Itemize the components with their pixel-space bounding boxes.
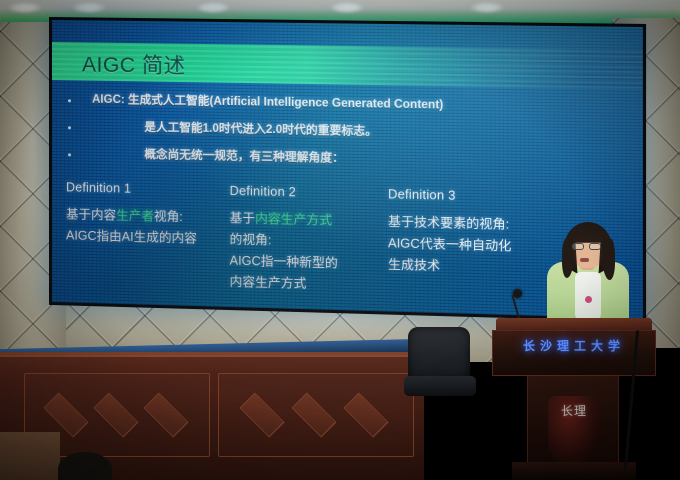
speaker-hair-side-right: [602, 238, 615, 280]
definition-column-2: Definition 2 基于内容生产方式的视角:AIGC指一种新型的内容生产方…: [230, 184, 338, 296]
podium-base: [512, 462, 636, 480]
lecture-hall-photo: AIGC 简述 AIGC: 生成式人工智能(Artificial Intelli…: [0, 0, 680, 480]
definition-line: 内容生产方式: [230, 272, 338, 296]
definition-body: 基于内容生产方式的视角:AIGC指一种新型的内容生产方式: [230, 208, 338, 296]
ceiling-downlight: [470, 2, 504, 13]
desk-diamond-inlay: [144, 393, 189, 438]
definition-highlight: 内容生产方式: [255, 212, 332, 228]
definition-text: 视角:: [154, 209, 183, 224]
definition-line: AIGC指由AI生成的内容: [66, 225, 197, 249]
ceiling-downlight: [8, 2, 42, 13]
podium-emblem-text: 长理: [548, 404, 600, 419]
desk-diamond-inlay: [94, 393, 139, 438]
definition-line: 基于内容生产方式: [230, 208, 338, 232]
definition-text: 基于: [230, 211, 256, 226]
definition-text: AIGC指一种新型的: [230, 253, 338, 270]
bullet-dot-icon: [68, 153, 71, 156]
definition-line: 基于技术要素的视角:: [388, 212, 511, 236]
speaker-glasses-left-lens: [572, 243, 584, 250]
bullet-dot-icon: [68, 126, 71, 129]
speaker-badge: [585, 296, 592, 303]
office-chair-back: [408, 327, 470, 381]
bullet-dot-icon: [68, 99, 71, 102]
floor: [0, 432, 60, 480]
desk-panel: [218, 373, 414, 457]
bullet-text: 概念尚无统一规范，有三种理解角度：: [144, 146, 344, 166]
definition-body: 基于技术要素的视角:AIGC代表一种自动化生成技术: [388, 212, 511, 279]
office-chair-seat: [404, 376, 476, 396]
definition-line: 生成技术: [388, 254, 511, 279]
definition-heading: Definition 3: [388, 187, 511, 204]
desk-diamond-inlay: [240, 393, 285, 438]
definition-highlight: 生产者: [116, 208, 154, 223]
audience-member-silhouette: [58, 452, 112, 480]
podium-university-name: 长沙理工大学: [493, 337, 655, 354]
speaker-glasses-right-lens: [589, 243, 601, 250]
definition-text: 的视角:: [230, 232, 272, 247]
desk-diamond-inlay: [344, 393, 389, 438]
slide-title: AIGC 简述: [82, 48, 186, 80]
bullet-text: 是人工智能1.0时代进入2.0时代的重要标志。: [144, 119, 377, 139]
definition-line: AIGC代表一种自动化: [388, 233, 511, 258]
definition-column-3: Definition 3 基于技术要素的视角:AIGC代表一种自动化生成技术: [388, 187, 511, 279]
definition-text: 基于技术要素的视角:: [388, 215, 509, 232]
definition-column-1: Definition 1 基于内容生产者视角:AIGC指由AI生成的内容: [66, 180, 197, 249]
slide-bullet-list: AIGC: 生成式人工智能(Artificial Intelligence Ge…: [52, 88, 643, 181]
definition-text: 基于内容: [66, 207, 116, 222]
speaker-mouth: [580, 258, 589, 262]
bullet-text: AIGC: 生成式人工智能(Artificial Intelligence Ge…: [92, 91, 443, 113]
definition-line: AIGC指一种新型的: [230, 250, 338, 274]
definition-columns: Definition 1 基于内容生产者视角:AIGC指由AI生成的内容 Def…: [52, 180, 643, 193]
definition-text: AIGC指由AI生成的内容: [66, 228, 197, 245]
definition-text: 内容生产方式: [230, 275, 307, 291]
definition-heading: Definition 1: [66, 180, 197, 197]
definition-text: 生成技术: [388, 257, 440, 273]
microphone-head-icon: [513, 289, 522, 298]
ceiling-downlight: [72, 2, 106, 13]
ceiling-downlight: [330, 2, 364, 13]
definition-text: AIGC代表一种自动化: [388, 236, 511, 253]
ceiling-downlight: [196, 2, 230, 13]
definition-line: 的视角:: [230, 229, 338, 253]
desk-diamond-inlay: [44, 393, 89, 438]
podium-front: 长沙理工大学: [492, 330, 656, 376]
definition-heading: Definition 2: [230, 184, 338, 201]
desk-diamond-inlay: [292, 393, 337, 438]
definition-body: 基于内容生产者视角:AIGC指由AI生成的内容: [66, 204, 197, 249]
podium-emblem-icon: 长理: [548, 396, 600, 466]
